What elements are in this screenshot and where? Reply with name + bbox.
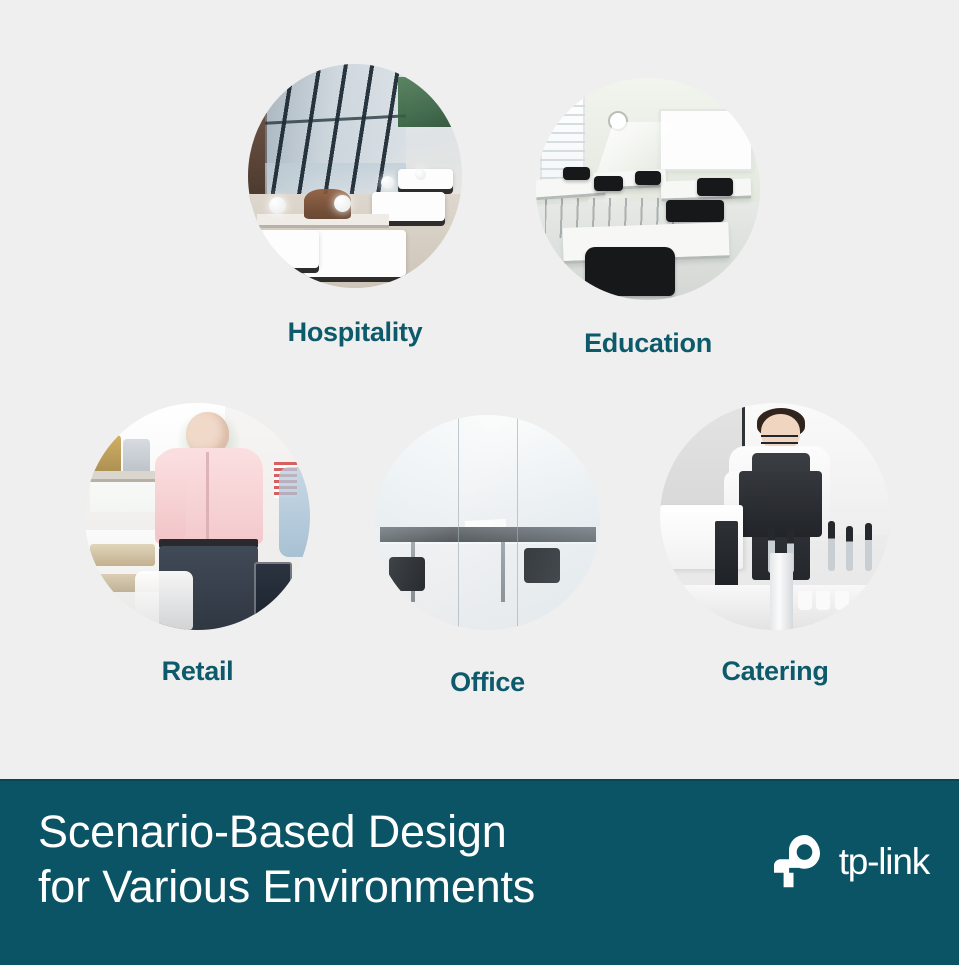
scenario-grid: Hospitality [0, 0, 959, 779]
scenario-label-office: Office [375, 669, 600, 696]
tp-link-logo: tp-link [768, 833, 929, 891]
scenario-label-retail: Retail [85, 658, 310, 685]
scenario-image-retail [85, 403, 310, 630]
tp-link-wordmark: tp-link [839, 841, 929, 883]
retail-shopper-illustration [85, 403, 310, 630]
scenario-image-catering [660, 403, 890, 630]
office-meeting-illustration [375, 415, 600, 630]
hotel-lobby-illustration [248, 64, 462, 288]
barista-illustration [660, 403, 890, 630]
scenario-image-hospitality [248, 64, 462, 288]
scenario-hospitality[interactable]: Hospitality [248, 64, 462, 346]
headline-line-1: Scenario-Based Design [38, 806, 507, 857]
poster-page: Hospitality [0, 0, 959, 965]
classroom-illustration [536, 78, 760, 300]
scenario-image-education [536, 78, 760, 300]
scenario-office[interactable]: Office [375, 415, 600, 696]
scenario-label-catering: Catering [660, 658, 890, 685]
scenario-catering[interactable]: Catering [660, 403, 890, 685]
scenario-label-hospitality: Hospitality [248, 319, 462, 346]
scenario-retail[interactable]: Retail [85, 403, 310, 685]
scenario-label-education: Education [536, 330, 760, 357]
tp-link-mark-icon [768, 833, 830, 891]
banner-headline: Scenario-Based Design for Various Enviro… [38, 805, 535, 915]
scenario-education[interactable]: Education [536, 78, 760, 357]
headline-line-2: for Various Environments [38, 860, 535, 915]
bottom-banner: Scenario-Based Design for Various Enviro… [0, 779, 959, 965]
scenario-image-office [375, 415, 600, 630]
